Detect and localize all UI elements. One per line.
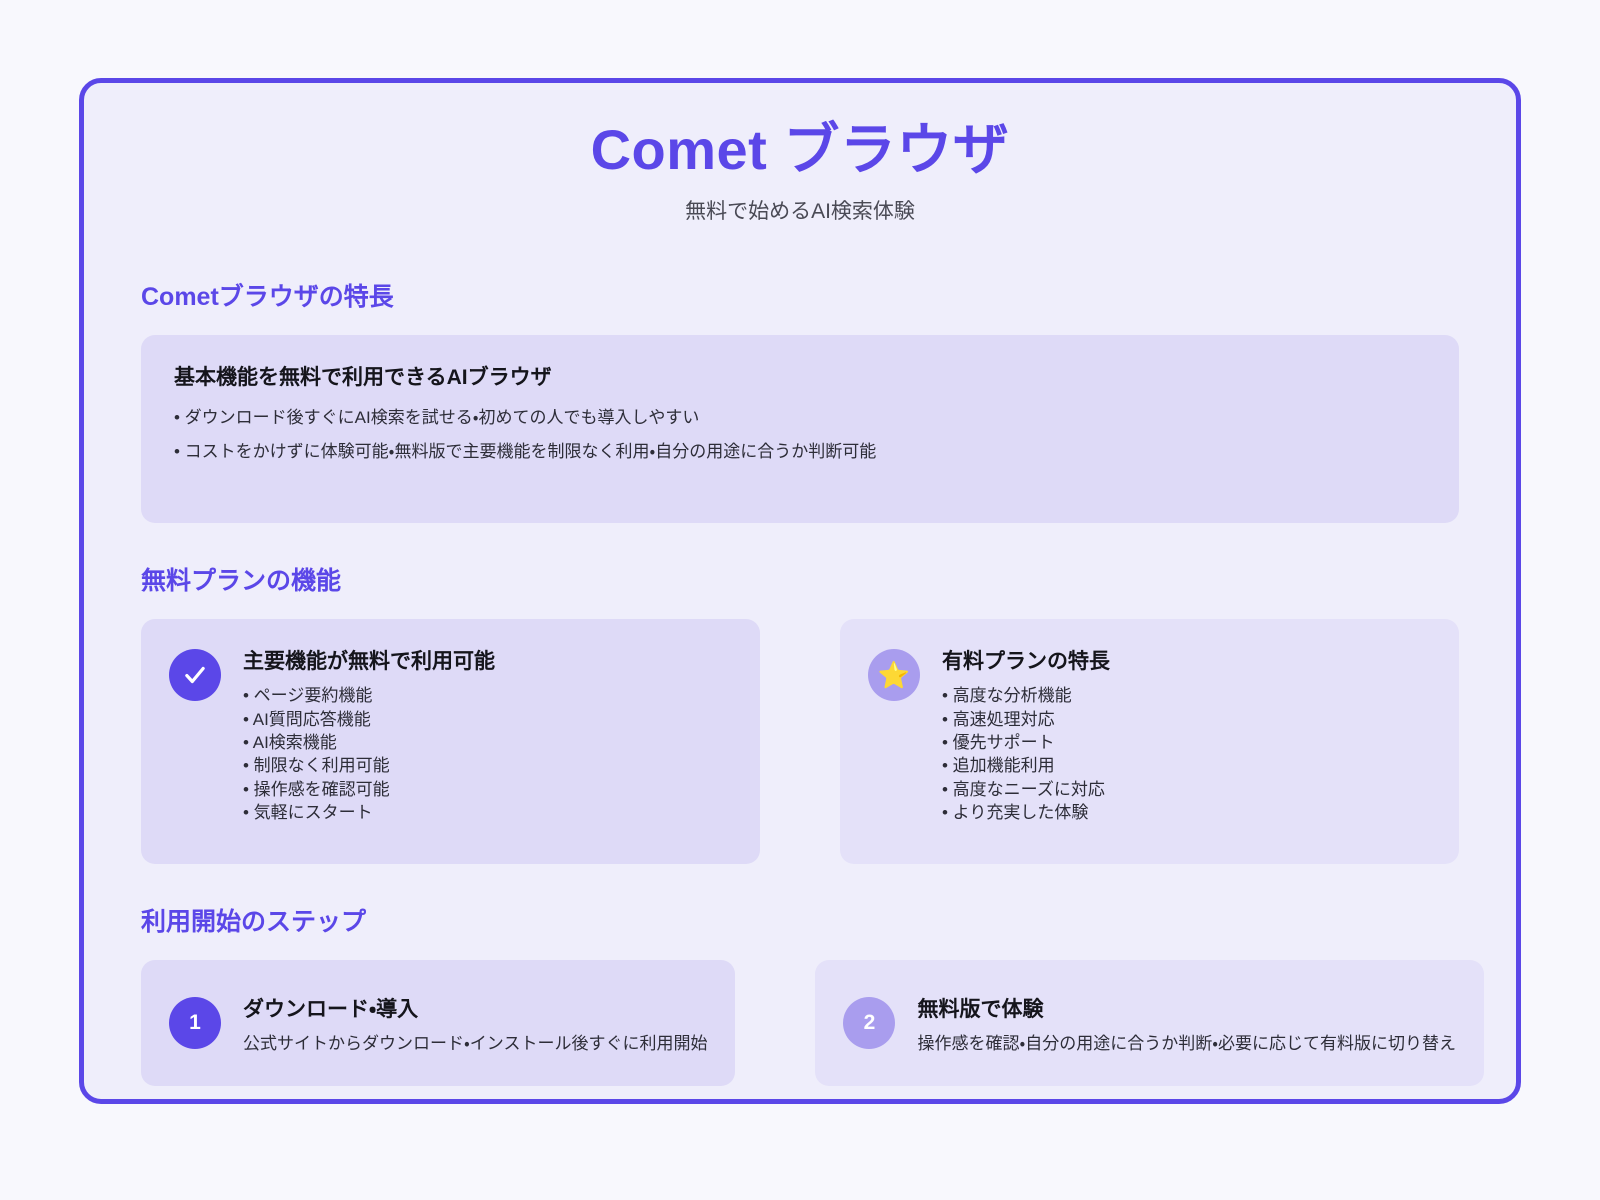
plan-list-item: • ページ要約機能 (243, 684, 732, 707)
poster-header: Comet ブラウザ 無料で始めるAI検索体験 (84, 83, 1516, 225)
step-card-2: 2 無料版で体験 操作感を確認・自分の用途に合うか判断・必要に応じて有料版に切り… (815, 960, 1484, 1086)
feature-card-title: 基本機能を無料で利用できるAIブラウザ (174, 361, 1426, 391)
plan-list-item: • 追加機能利用 (942, 754, 1431, 777)
plan-card-paid: ⭐ 有料プランの特長 • 高度な分析機能 • 高速処理対応 • 優先サポート •… (840, 619, 1459, 864)
step-number-badge: 1 (169, 997, 221, 1049)
step-description: 公式サイトからダウンロード・インストール後すぐに利用開始 (243, 1029, 707, 1054)
plan-list-item: • 制限なく利用可能 (243, 754, 732, 777)
plans-row: 主要機能が無料で利用可能 • ページ要約機能 • AI質問応答機能 • AI検索… (141, 619, 1459, 864)
star-glyph: ⭐ (878, 662, 910, 688)
plan-list-item: • 優先サポート (942, 731, 1431, 754)
feature-card-line: • ダウンロード後すぐにAI検索を試せる・初めての人でも導入しやすい (174, 405, 1426, 431)
step-card-body: 無料版で体験 操作感を確認・自分の用途に合うか判断・必要に応じて有料版に切り替え (917, 993, 1456, 1054)
plan-list-item: • 高速処理対応 (942, 708, 1431, 731)
step-description: 操作感を確認・自分の用途に合うか判断・必要に応じて有料版に切り替え (917, 1029, 1456, 1054)
plan-list-item: • AI質問応答機能 (243, 708, 732, 731)
check-icon (169, 649, 221, 701)
page-title: Comet ブラウザ (84, 117, 1516, 183)
section-heading-plans: 無料プランの機能 (141, 561, 1516, 597)
plan-card-body: 主要機能が無料で利用可能 • ページ要約機能 • AI質問応答機能 • AI検索… (243, 645, 732, 825)
feature-card: 基本機能を無料で利用できるAIブラウザ • ダウンロード後すぐにAI検索を試せる… (141, 335, 1459, 523)
plan-card-title: 有料プランの特長 (942, 645, 1431, 675)
plan-card-free: 主要機能が無料で利用可能 • ページ要約機能 • AI質問応答機能 • AI検索… (141, 619, 760, 864)
plan-list-item: • 高度なニーズに対応 (942, 778, 1431, 801)
feature-card-line: • コストをかけずに体験可能・無料版で主要機能を制限なく利用・自分の用途に合うか… (174, 439, 1426, 465)
step-title: 無料版で体験 (917, 993, 1456, 1023)
section-heading-steps: 利用開始のステップ (141, 902, 1516, 938)
plan-list-item: • 操作感を確認可能 (243, 778, 732, 801)
step-title: ダウンロード・導入 (243, 993, 707, 1023)
step-number-badge: 2 (843, 997, 895, 1049)
plan-list-item: • 高度な分析機能 (942, 684, 1431, 707)
poster-frame: Comet ブラウザ 無料で始めるAI検索体験 Cometブラウザの特長 基本機… (79, 78, 1521, 1104)
section-heading-feature: Cometブラウザの特長 (141, 277, 1516, 313)
step-card-body: ダウンロード・導入 公式サイトからダウンロード・インストール後すぐに利用開始 (243, 993, 707, 1054)
plan-list-item: • より充実した体験 (942, 801, 1431, 824)
plan-card-body: 有料プランの特長 • 高度な分析機能 • 高速処理対応 • 優先サポート • 追… (942, 645, 1431, 825)
step-card-1: 1 ダウンロード・導入 公式サイトからダウンロード・インストール後すぐに利用開始 (141, 960, 735, 1086)
star-icon: ⭐ (868, 649, 920, 701)
plan-card-title: 主要機能が無料で利用可能 (243, 645, 732, 675)
plan-list-item: • AI検索機能 (243, 731, 732, 754)
steps-row: 1 ダウンロード・導入 公式サイトからダウンロード・インストール後すぐに利用開始… (141, 960, 1459, 1086)
plan-list-item: • 気軽にスタート (243, 801, 732, 824)
page-subtitle: 無料で始めるAI検索体験 (84, 195, 1516, 225)
